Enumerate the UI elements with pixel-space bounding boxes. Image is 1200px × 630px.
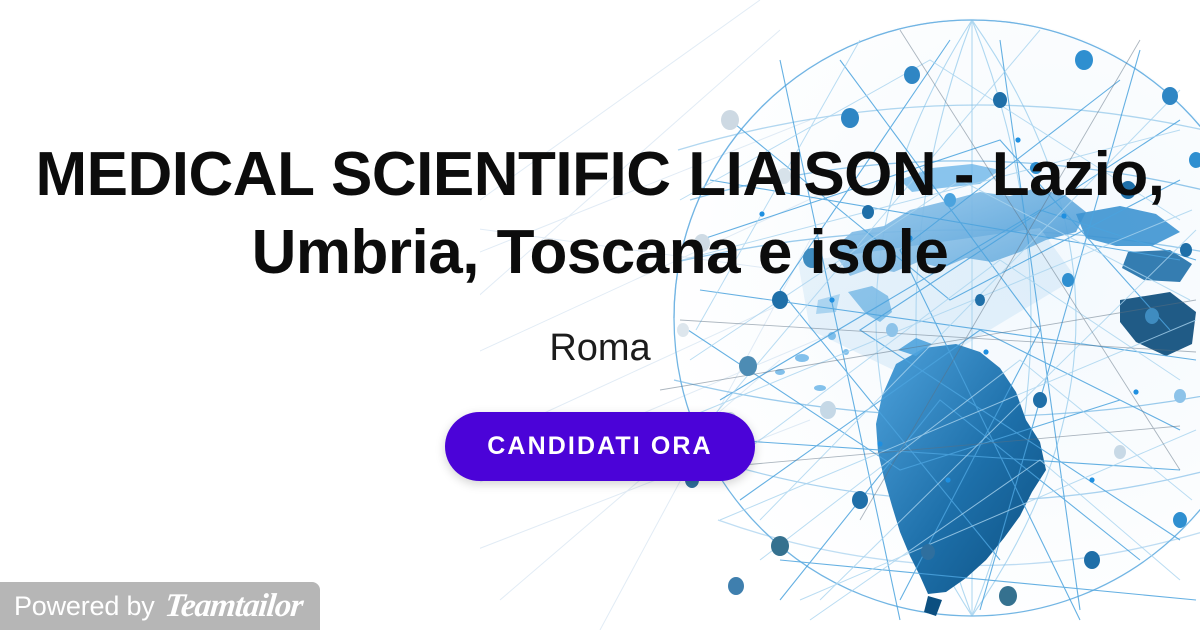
- job-title: MEDICAL SCIENTIFIC LIAISON - Lazio, Umbr…: [35, 136, 1165, 292]
- teamtailor-logo: Teamtailor: [163, 590, 304, 623]
- apply-now-button[interactable]: CANDIDATI ORA: [445, 412, 754, 481]
- job-ad-card: MEDICAL SCIENTIFIC LIAISON - Lazio, Umbr…: [0, 0, 1200, 630]
- apply-button-wrapper: CANDIDATI ORA: [0, 412, 1200, 481]
- job-location: Roma: [549, 326, 650, 370]
- job-ad-content: MEDICAL SCIENTIFIC LIAISON - Lazio, Umbr…: [0, 0, 1200, 630]
- powered-by-label: Powered by: [14, 593, 155, 620]
- powered-by-badge[interactable]: Powered by Teamtailor: [0, 582, 320, 630]
